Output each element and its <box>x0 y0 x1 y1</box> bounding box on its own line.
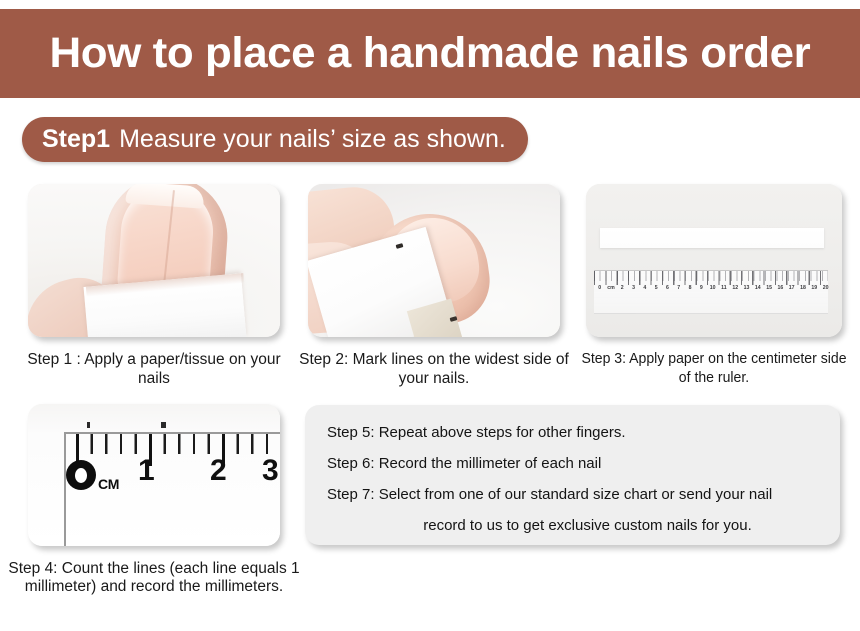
ruler-tick-label: 5 <box>650 284 661 296</box>
ruler-mark-1: 1 <box>138 456 155 486</box>
ruler-tick-label: 14 <box>752 284 763 296</box>
info-line-step-5: Step 5: Repeat above steps for other fin… <box>327 423 818 443</box>
caption-step-4: Step 4: Count the lines (each line equal… <box>8 560 300 596</box>
ruler-tick-label: 6 <box>662 284 673 296</box>
ruler-tick-label: 8 <box>684 284 695 296</box>
photo-card-step-4: CM 1 2 3 <box>28 404 280 546</box>
ruler-tick-label: 20 <box>820 284 831 296</box>
ruler-mark-3: 3 <box>262 456 279 486</box>
ruler-tick-label: 16 <box>775 284 786 296</box>
ruler-tick-label: 0 <box>594 284 605 296</box>
ruler-zero-counter <box>75 468 87 483</box>
ruler-tick-label: 12 <box>730 284 741 296</box>
ruler-tick-label: 4 <box>639 284 650 296</box>
zoomed-ruler-photo: CM 1 2 3 <box>28 404 280 546</box>
caption-step-2: Step 2: Mark lines on the widest side of… <box>296 350 572 388</box>
ruler-centimeter-ticks <box>76 434 280 466</box>
info-line-step-7: Step 7: Select from one of our standard … <box>327 485 818 505</box>
page-title: How to place a handmade nails order <box>50 32 811 75</box>
steps-info-panel: Step 5: Repeat above steps for other fin… <box>305 405 840 545</box>
info-line-step-6: Step 6: Record the millimeter of each na… <box>327 454 818 474</box>
photo-card-step-3: 0 cm 2 3 4 5 6 7 8 9 10 11 12 13 14 15 1… <box>586 184 842 337</box>
photo-card-step-1 <box>28 184 280 337</box>
step1-badge-label: Step1 <box>42 127 110 152</box>
ruler-tick-label: 19 <box>809 284 820 296</box>
header-banner: How to place a handmade nails order <box>0 9 860 98</box>
transparent-ruler-shape: 0 cm 2 3 4 5 6 7 8 9 10 11 12 13 14 15 1… <box>594 270 828 314</box>
ruler-tick-label: 11 <box>718 284 729 296</box>
caption-step-3: Step 3: Apply paper on the centimeter si… <box>576 350 851 388</box>
photo-background <box>586 184 842 337</box>
photo-card-step-2 <box>308 184 560 337</box>
ruler-tick-label: 17 <box>786 284 797 296</box>
ruler-major-ticks <box>594 271 828 285</box>
caption-step-1: Step 1 : Apply a paper/tissue on your na… <box>10 350 298 388</box>
hand-marking-paper-strip-photo <box>308 184 560 337</box>
ruler-tick-label: 2 <box>617 284 628 296</box>
ruler-tick-label: 7 <box>673 284 684 296</box>
ruler-tick-label: cm <box>605 284 616 296</box>
pen-mark-left <box>87 422 90 428</box>
ruler-tick-label: 15 <box>763 284 774 296</box>
info-line-step-7-cont: record to us to get exclusive custom nai… <box>327 516 818 536</box>
ruler-tick-label: 3 <box>628 284 639 296</box>
step1-pill: Step1 Measure your nails’ size as shown. <box>22 117 528 162</box>
pen-mark-right <box>161 422 166 428</box>
paper-strip-shape <box>600 228 824 248</box>
ruler-tick-label: 13 <box>741 284 752 296</box>
ruler-with-paper-strip-photo: 0 cm 2 3 4 5 6 7 8 9 10 11 12 13 14 15 1… <box>586 184 842 337</box>
ruler-tick-label: 9 <box>696 284 707 296</box>
ruler-left-edge <box>64 432 66 546</box>
ruler-mark-2: 2 <box>210 456 227 486</box>
ruler-unit-label: CM <box>98 476 119 492</box>
step1-description: Measure your nails’ size as shown. <box>119 127 506 152</box>
fingertip-with-paper-strip-photo <box>28 184 280 337</box>
ruler-number-row: 0 cm 2 3 4 5 6 7 8 9 10 11 12 13 14 15 1… <box>594 284 828 296</box>
ruler-tick-label: 10 <box>707 284 718 296</box>
ruler-tick-label: 18 <box>797 284 808 296</box>
